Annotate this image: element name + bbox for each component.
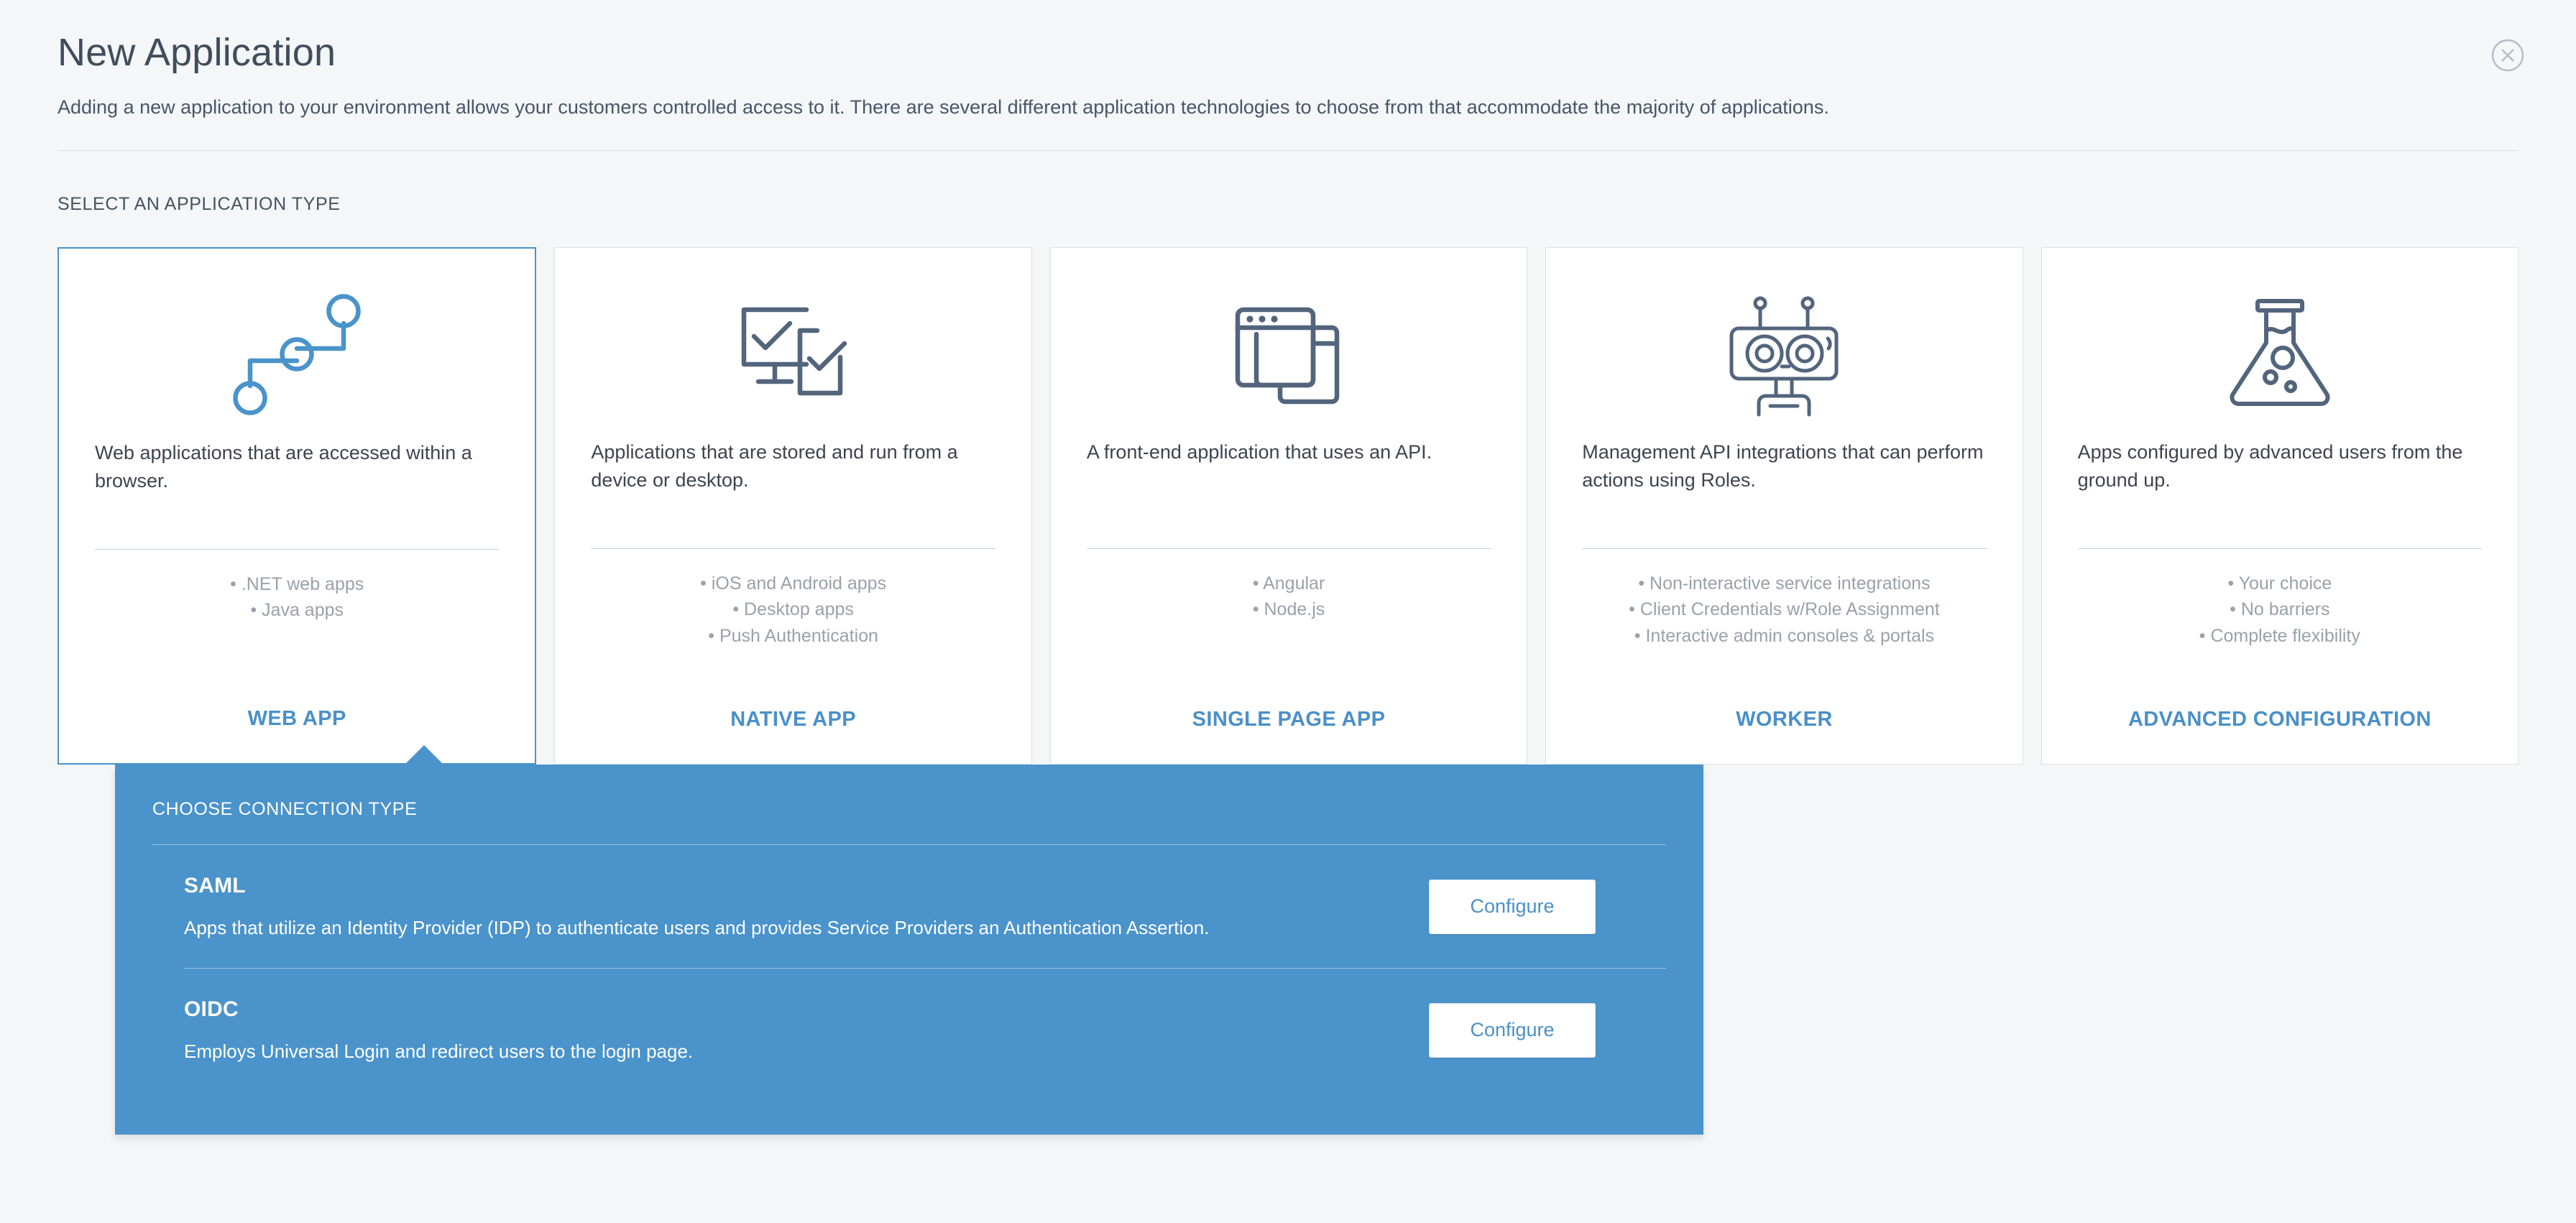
connection-row-name: OIDC [184, 997, 1429, 1022]
app-card-worker[interactable]: Management API integrations that can per… [1545, 247, 2023, 765]
robot-icon [1582, 269, 1986, 438]
list-item: • Angular [1087, 571, 1491, 596]
app-card-bullets: • Non-interactive service integrations •… [1582, 571, 1986, 708]
list-item: • Interactive admin consoles & portals [1582, 623, 1986, 649]
app-card-web-app[interactable]: Web applications that are accessed withi… [57, 247, 536, 765]
connection-row-oidc[interactable]: OIDC Employs Universal Login and redirec… [115, 969, 1703, 1092]
list-item: • Push Authentication [591, 623, 995, 649]
app-card-bullets: • Angular • Node.js [1087, 571, 1491, 708]
connection-panel-title: CHOOSE CONNECTION TYPE [115, 799, 1703, 820]
page-title: New Application [57, 32, 2518, 74]
section-label: SELECT AN APPLICATION TYPE [0, 194, 2576, 215]
page-subtitle: Adding a new application to your environ… [57, 94, 2518, 121]
card-divider [1582, 548, 1986, 549]
list-item: • Desktop apps [591, 596, 995, 622]
desktop-and-device-check-icon [591, 269, 995, 438]
app-card-link-worker[interactable]: WORKER [1582, 708, 1986, 764]
app-card-description: Apps configured by advanced users from t… [2078, 438, 2482, 535]
list-item: • Complete flexibility [2078, 623, 2482, 649]
connection-type-section: CHOOSE CONNECTION TYPE SAML Apps that ut… [0, 765, 2576, 1135]
page-header: New Application Adding a new application… [0, 0, 2576, 151]
app-card-description: Web applications that are accessed withi… [95, 439, 499, 536]
list-item: • .NET web apps [95, 571, 499, 597]
list-item: • No barriers [2078, 596, 2482, 622]
card-divider [2078, 548, 2482, 549]
connection-row-text: OIDC Employs Universal Login and redirec… [184, 997, 1429, 1063]
app-card-bullets: • Your choice • No barriers • Complete f… [2078, 571, 2482, 708]
node-graph-icon [95, 270, 499, 439]
app-card-link-native-app[interactable]: NATIVE APP [591, 708, 995, 764]
configure-button-saml[interactable]: Configure [1429, 880, 1596, 934]
card-divider [591, 548, 995, 549]
app-card-bullets: • .NET web apps • Java apps [95, 571, 499, 707]
card-divider [95, 549, 499, 550]
list-item: • Client Credentials w/Role Assignment [1582, 596, 1986, 622]
connection-row-description: Employs Universal Login and redirect use… [184, 1040, 1429, 1063]
list-item: • iOS and Android apps [591, 571, 995, 596]
app-card-bullets: • iOS and Android apps • Desktop apps • … [591, 571, 995, 708]
app-card-description: Management API integrations that can per… [1582, 438, 1986, 535]
panel-pointer-arrow [404, 745, 444, 765]
list-item: • Your choice [2078, 571, 2482, 596]
app-card-link-advanced-configuration[interactable]: ADVANCED CONFIGURATION [2078, 708, 2482, 764]
app-card-single-page-app[interactable]: A front-end application that uses an API… [1050, 247, 1527, 765]
connection-row-saml[interactable]: SAML Apps that utilize an Identity Provi… [115, 845, 1703, 968]
list-item: • Non-interactive service integrations [1582, 571, 1986, 596]
connection-row-text: SAML Apps that utilize an Identity Provi… [184, 874, 1429, 939]
header-divider [57, 150, 2518, 151]
app-card-description: A front-end application that uses an API… [1087, 438, 1491, 535]
app-card-link-single-page-app[interactable]: SINGLE PAGE APP [1087, 708, 1491, 764]
list-item: • Java apps [95, 597, 499, 623]
flask-icon [2078, 269, 2482, 438]
close-icon[interactable] [2490, 37, 2526, 73]
app-card-native-app[interactable]: Applications that are stored and run fro… [554, 247, 1031, 765]
app-card-description: Applications that are stored and run fro… [591, 438, 995, 535]
connection-type-panel: CHOOSE CONNECTION TYPE SAML Apps that ut… [115, 765, 1703, 1135]
connection-row-name: SAML [184, 874, 1429, 898]
application-type-card-list: Web applications that are accessed withi… [0, 247, 2576, 765]
new-application-page: New Application Adding a new application… [0, 0, 2576, 1223]
app-card-advanced-configuration[interactable]: Apps configured by advanced users from t… [2041, 247, 2518, 765]
card-divider [1087, 548, 1491, 549]
connection-row-description: Apps that utilize an Identity Provider (… [184, 917, 1429, 939]
browser-windows-icon [1087, 269, 1491, 438]
configure-button-oidc[interactable]: Configure [1429, 1003, 1596, 1058]
list-item: • Node.js [1087, 596, 1491, 622]
